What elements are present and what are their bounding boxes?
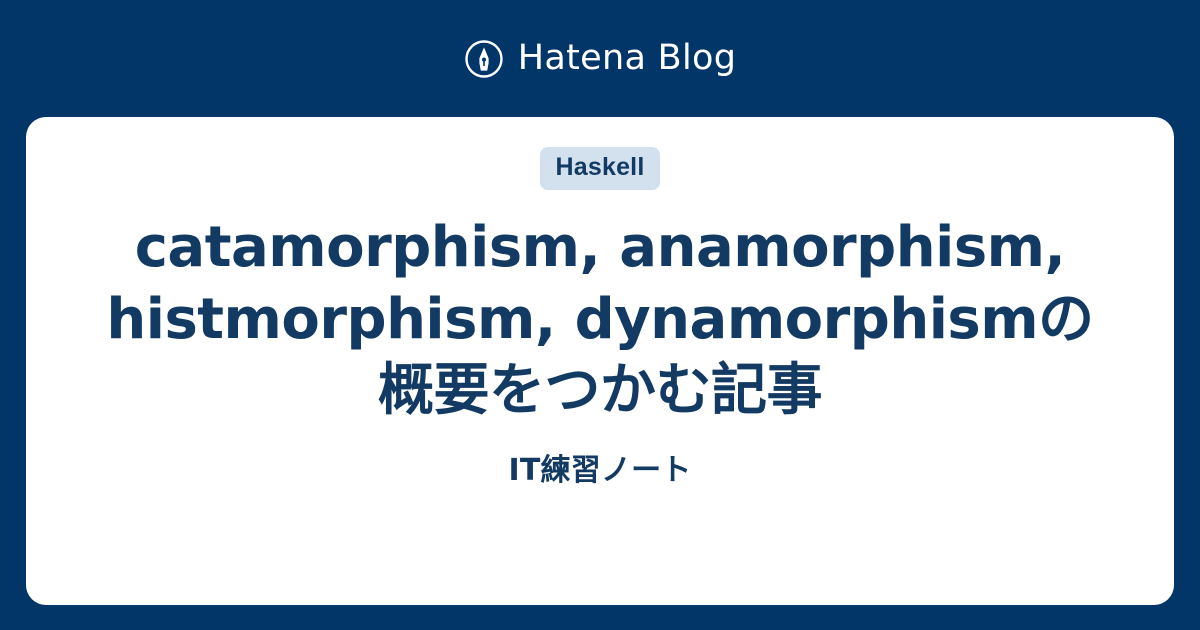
fountain-pen-nib-icon: [464, 39, 504, 79]
brand-name: Hatena Blog: [518, 41, 736, 76]
blog-name: IT練習ノート: [508, 453, 691, 489]
entry-card: Haskell catamorphism, anamorphism, histm…: [26, 117, 1174, 605]
tag-row: Haskell: [86, 147, 1114, 190]
entry-title: catamorphism, anamorphism, histmorphism,…: [100, 212, 1100, 427]
brand-header: Hatena Blog: [0, 0, 1200, 117]
category-tag[interactable]: Haskell: [540, 147, 661, 190]
